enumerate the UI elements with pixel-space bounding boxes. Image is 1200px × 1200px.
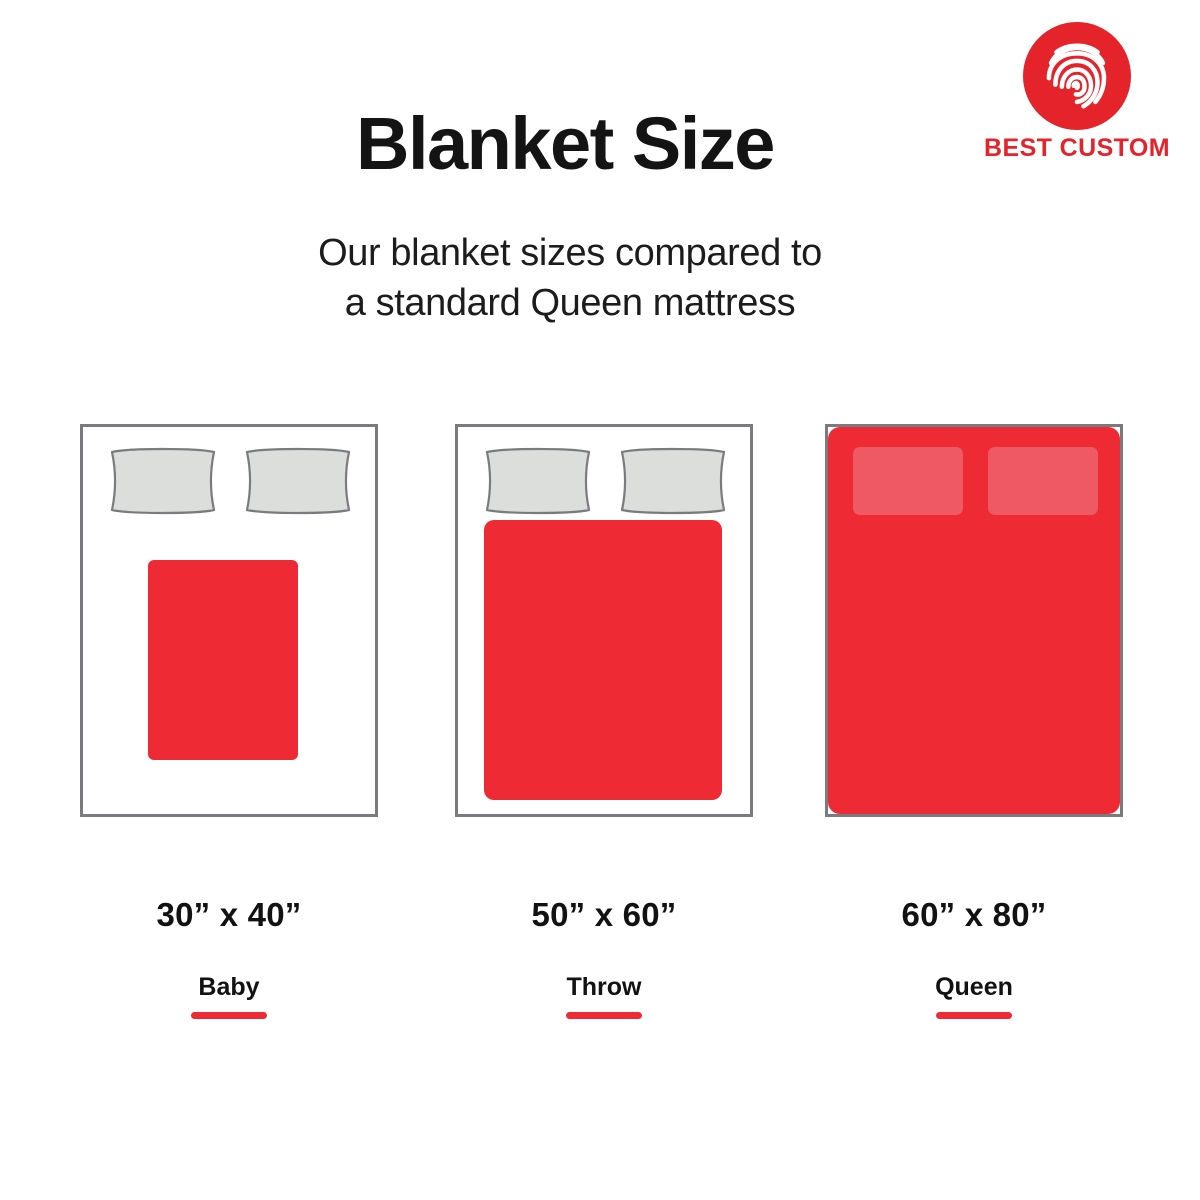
bed-diagram-baby [80,424,378,817]
pillow-icon [483,447,593,515]
page-subtitle: Our blanket sizes compared to a standard… [0,228,1140,328]
size-label-queen: 60” x 80” Queen [825,898,1123,1019]
blanket-swatch-throw [484,520,722,800]
underline-rule [191,1012,267,1019]
size-label-throw: 50” x 60” Throw [455,898,753,1019]
size-dimensions: 50” x 60” [455,898,753,931]
size-labels-row: 30” x 40” Baby 50” x 60” Throw 60” x 80”… [0,898,1200,1038]
size-dimensions: 60” x 80” [825,898,1123,931]
bed-diagram-throw [455,424,753,817]
pillow-icon [618,447,728,515]
subtitle-line-1: Our blanket sizes compared to [0,228,1140,278]
pillow-icon [108,447,218,515]
bed-comparison-row [0,424,1200,820]
page-title: Blanket Size [0,104,1130,184]
underline-rule [936,1012,1012,1019]
pillow-icon [243,447,353,515]
bed-diagram-queen [825,424,1123,817]
blanket-swatch-queen [828,427,1120,814]
subtitle-line-2: a standard Queen mattress [0,278,1140,328]
size-label-baby: 30” x 40” Baby [80,898,378,1019]
underline-rule [566,1012,642,1019]
size-name: Queen [825,975,1123,1000]
size-dimensions: 30” x 40” [80,898,378,931]
pillow-icon [853,447,963,515]
pillow-icon [988,447,1098,515]
size-name: Throw [455,975,753,1000]
size-name: Baby [80,975,378,1000]
blanket-swatch-baby [148,560,298,760]
